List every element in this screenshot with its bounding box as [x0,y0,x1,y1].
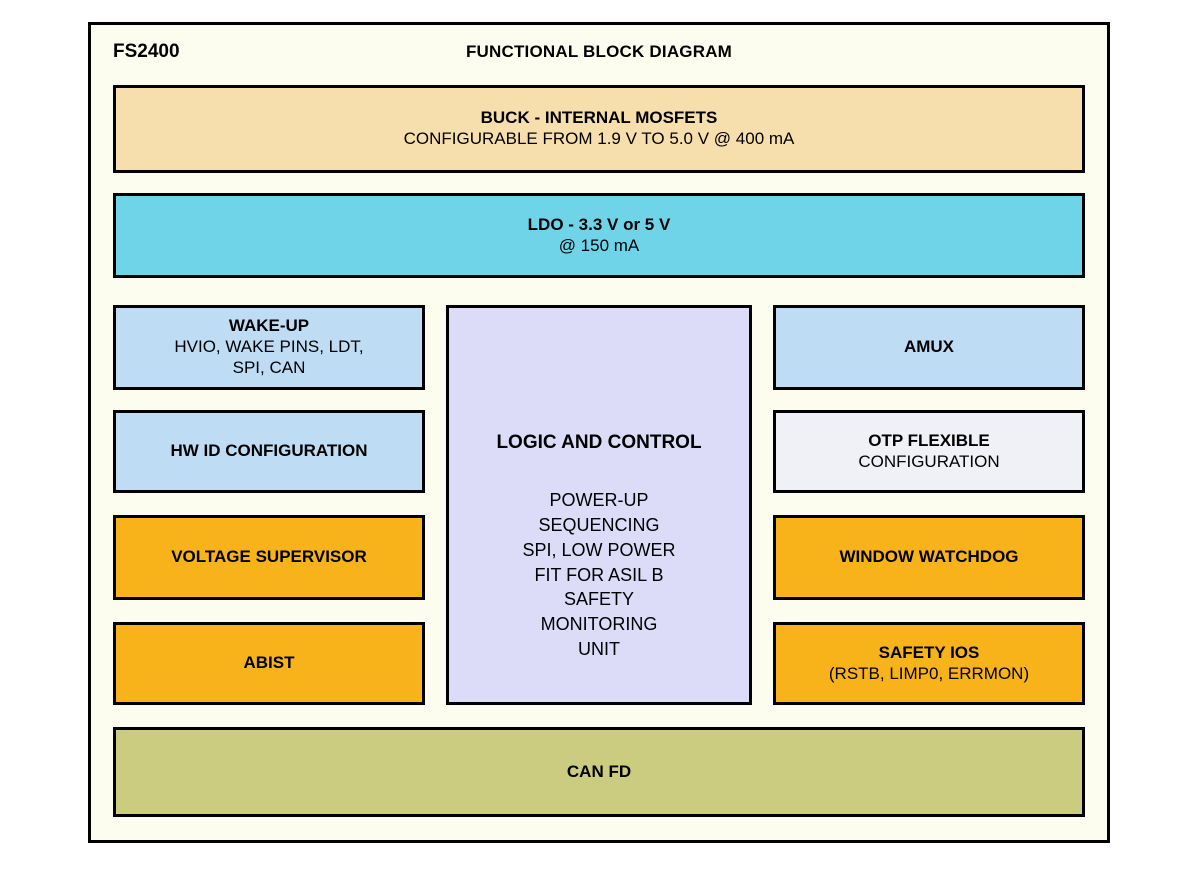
block-wake-up: WAKE-UP HVIO, WAKE PINS, LDT, SPI, CAN [113,305,425,390]
block-ldo-subtitle: @ 150 mA [559,236,640,257]
block-buck-subtitle: CONFIGURABLE FROM 1.9 V TO 5.0 V @ 400 m… [404,129,795,150]
block-logic-and-control: LOGIC AND CONTROL POWER-UP SEQUENCING SP… [446,305,752,705]
block-wake-up-title: WAKE-UP [229,316,309,337]
block-amux-title: AMUX [904,337,954,358]
page-title: FUNCTIONAL BLOCK DIAGRAM [91,42,1107,62]
block-hw-id-configuration-title: HW ID CONFIGURATION [170,441,367,462]
block-voltage-supervisor-title: VOLTAGE SUPERVISOR [171,547,367,568]
block-wake-up-subtitle: HVIO, WAKE PINS, LDT, SPI, CAN [174,337,363,378]
block-window-watchdog: WINDOW WATCHDOG [773,515,1085,600]
block-otp-flexible-subtitle: CONFIGURATION [858,452,999,473]
block-otp-flexible-title: OTP FLEXIBLE [868,431,990,452]
diagram-panel: FS2400 FUNCTIONAL BLOCK DIAGRAM BUCK - I… [88,22,1110,843]
block-logic-and-control-subtitle: POWER-UP SEQUENCING SPI, LOW POWER FIT F… [522,488,675,662]
block-voltage-supervisor: VOLTAGE SUPERVISOR [113,515,425,600]
block-hw-id-configuration: HW ID CONFIGURATION [113,410,425,493]
block-buck-title: BUCK - INTERNAL MOSFETS [481,108,718,129]
block-buck: BUCK - INTERNAL MOSFETS CONFIGURABLE FRO… [113,85,1085,173]
functional-block-diagram: FS2400 FUNCTIONAL BLOCK DIAGRAM BUCK - I… [0,0,1178,874]
block-logic-and-control-title: LOGIC AND CONTROL [496,431,701,454]
block-can-fd: CAN FD [113,727,1085,817]
block-safety-ios: SAFETY IOS (RSTB, LIMP0, ERRMON) [773,622,1085,705]
block-safety-ios-subtitle: (RSTB, LIMP0, ERRMON) [829,664,1029,685]
diagram-header: FS2400 FUNCTIONAL BLOCK DIAGRAM [91,25,1107,83]
block-safety-ios-title: SAFETY IOS [879,643,980,664]
block-window-watchdog-title: WINDOW WATCHDOG [839,547,1018,568]
block-ldo: LDO - 3.3 V or 5 V @ 150 mA [113,193,1085,278]
block-ldo-title: LDO - 3.3 V or 5 V [528,215,671,236]
block-amux: AMUX [773,305,1085,390]
block-otp-flexible: OTP FLEXIBLE CONFIGURATION [773,410,1085,493]
block-abist: ABIST [113,622,425,705]
block-can-fd-title: CAN FD [567,762,631,783]
block-abist-title: ABIST [244,653,295,674]
